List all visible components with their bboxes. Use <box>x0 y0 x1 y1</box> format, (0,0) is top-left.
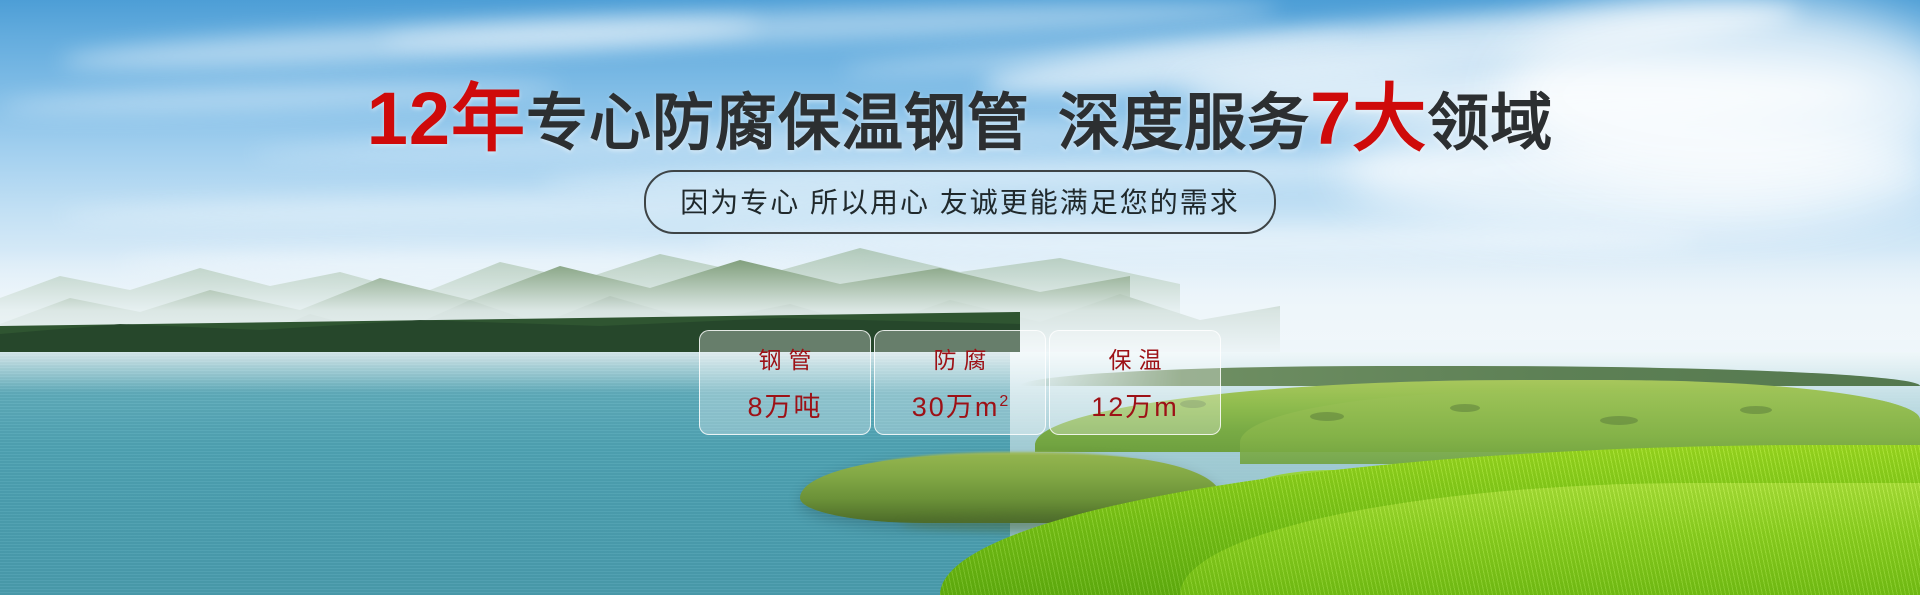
stat-card-value-text: 8万吨 <box>747 392 822 422</box>
stat-card-steel-pipe[interactable]: 钢管 8万吨 <box>699 330 871 435</box>
subtitle-container: 因为专心 所以用心 友诚更能满足您的需求 <box>0 170 1920 234</box>
stat-card-value: 12万m <box>1091 385 1179 424</box>
headline-service: 深度服务 <box>1058 89 1310 158</box>
stat-card-anticorrosion[interactable]: 防腐 30万m2 <box>874 330 1046 435</box>
stat-card-value-text: 12万m <box>1091 392 1179 422</box>
stat-card-insulation[interactable]: 保温 12万m <box>1049 330 1221 435</box>
stat-card-value-superscript: 2 <box>999 393 1008 410</box>
stat-card-label: 钢管 <box>752 341 819 375</box>
hero-banner: 12年专心防腐保温钢管深度服务7大领域 因为专心 所以用心 友诚更能满足您的需求… <box>0 0 1920 595</box>
stat-card-label: 防腐 <box>927 341 994 375</box>
stat-card-value: 8万吨 <box>747 385 822 424</box>
headline-years: 12年 <box>367 77 526 160</box>
stat-card-group: 钢管 8万吨 防腐 30万m2 保温 12万m <box>0 330 1920 435</box>
stat-card-value-text: 30万m <box>912 392 1000 422</box>
headline-fields: 领域 <box>1427 89 1553 158</box>
headline-main: 专心防腐保温钢管 <box>526 89 1030 158</box>
stat-card-value: 30万m2 <box>912 385 1008 424</box>
subtitle-pill: 因为专心 所以用心 友诚更能满足您的需求 <box>644 170 1276 234</box>
stat-card-label: 保温 <box>1102 341 1169 375</box>
headline: 12年专心防腐保温钢管深度服务7大领域 <box>0 82 1920 156</box>
headline-count: 7大 <box>1310 77 1427 160</box>
